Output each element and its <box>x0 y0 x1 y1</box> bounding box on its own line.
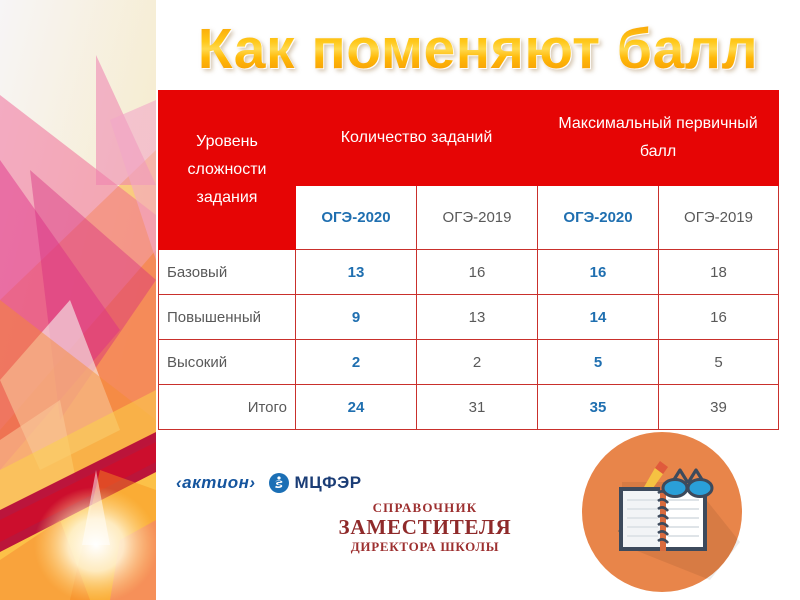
notebook-badge-illustration <box>580 430 745 595</box>
notebook-icon <box>580 430 745 595</box>
row-label-basic: Базовый <box>159 250 296 295</box>
polygon-artwork <box>0 0 156 600</box>
cell-basic-score-2019: 18 <box>659 250 779 295</box>
cell-high-score-2020: 5 <box>538 340 659 385</box>
header-corner-difficulty: Уровень сложности задания <box>159 91 296 250</box>
title-banner: Как поменяют балл <box>156 12 800 86</box>
subheader-count-2019: ОГЭ-2019 <box>417 186 538 250</box>
table-total-row: Итого 24 31 35 39 <box>159 385 779 430</box>
publication-line-2: ЗАМЕСТИТЕЛЯ <box>330 516 520 539</box>
table-row: Повышенный 9 13 14 16 <box>159 295 779 340</box>
aktion-logo-text: ‹актион› <box>176 473 256 493</box>
table-row: Высокий 2 2 5 5 <box>159 340 779 385</box>
header-group-task-count: Количество заданий <box>296 91 538 186</box>
cell-advanced-score-2019: 16 <box>659 295 779 340</box>
mcfer-logo: МЦФЭР <box>268 472 362 494</box>
table-row: Базовый 13 16 16 18 <box>159 250 779 295</box>
cell-basic-score-2020: 16 <box>538 250 659 295</box>
page-title: Как поменяют балл <box>156 12 800 86</box>
row-label-total: Итого <box>159 385 296 430</box>
cell-total-count-2019: 31 <box>417 385 538 430</box>
subheader-score-2019: ОГЭ-2019 <box>659 186 779 250</box>
publication-title: СПРАВОЧНИК ЗАМЕСТИТЕЛЯ ДИРЕКТОРА ШКОЛЫ <box>330 500 520 555</box>
publication-line-1: СПРАВОЧНИК <box>330 500 520 516</box>
publication-line-3: ДИРЕКТОРА ШКОЛЫ <box>330 539 520 555</box>
cell-high-score-2019: 5 <box>659 340 779 385</box>
cell-total-score-2019: 39 <box>659 385 779 430</box>
mcfer-logo-text: МЦФЭР <box>295 473 362 493</box>
decorative-polygon-panel <box>0 0 156 600</box>
mcfer-circle-icon <box>268 472 290 494</box>
cell-total-count-2020: 24 <box>296 385 417 430</box>
subheader-count-2020: ОГЭ-2020 <box>296 186 417 250</box>
score-comparison-table: Уровень сложности задания Количество зад… <box>158 90 779 430</box>
header-group-max-score: Максимальный первичный балл <box>538 91 779 186</box>
cell-advanced-count-2019: 13 <box>417 295 538 340</box>
cell-advanced-count-2020: 9 <box>296 295 417 340</box>
cell-basic-count-2019: 16 <box>417 250 538 295</box>
cell-basic-count-2020: 13 <box>296 250 417 295</box>
cell-high-count-2019: 2 <box>417 340 538 385</box>
brand-logos: ‹актион› МЦФЭР <box>176 472 362 494</box>
row-label-high: Высокий <box>159 340 296 385</box>
table-header-row-group: Уровень сложности задания Количество зад… <box>159 91 779 186</box>
cell-total-score-2020: 35 <box>538 385 659 430</box>
cell-high-count-2020: 2 <box>296 340 417 385</box>
row-label-advanced: Повышенный <box>159 295 296 340</box>
cell-advanced-score-2020: 14 <box>538 295 659 340</box>
subheader-score-2020: ОГЭ-2020 <box>538 186 659 250</box>
